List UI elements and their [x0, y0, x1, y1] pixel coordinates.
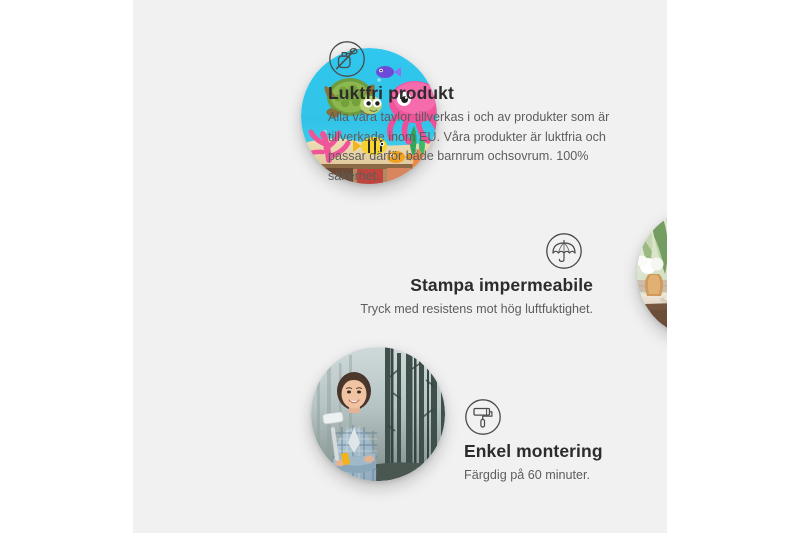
screenshot-root: Luktfri produkt Alla våra tavlor tillver…	[0, 0, 800, 533]
feature-title: Luktfri produkt	[328, 83, 454, 105]
paint-roller-icon	[464, 398, 502, 436]
woman-with-paint-roller-forest-photo[interactable]	[311, 347, 445, 481]
content-panel: Luktfri produkt Alla våra tavlor tillver…	[133, 0, 667, 533]
feature-body: Färgdig på 60 minuter.	[464, 466, 667, 486]
feature-title: Enkel montering	[464, 441, 603, 463]
feature-body: Alla våra tavlor tillverkas i och av pro…	[328, 108, 620, 186]
no-odour-perfume-bottle-icon	[328, 40, 366, 78]
bathroom-botanical-wallpaper-photo[interactable]	[637, 208, 667, 338]
feature-title: Stampa impermeabile	[410, 275, 593, 297]
feature-body: Tryck med resistens mot hög luftfuktighe…	[343, 300, 593, 320]
umbrella-waterproof-icon	[545, 232, 583, 270]
